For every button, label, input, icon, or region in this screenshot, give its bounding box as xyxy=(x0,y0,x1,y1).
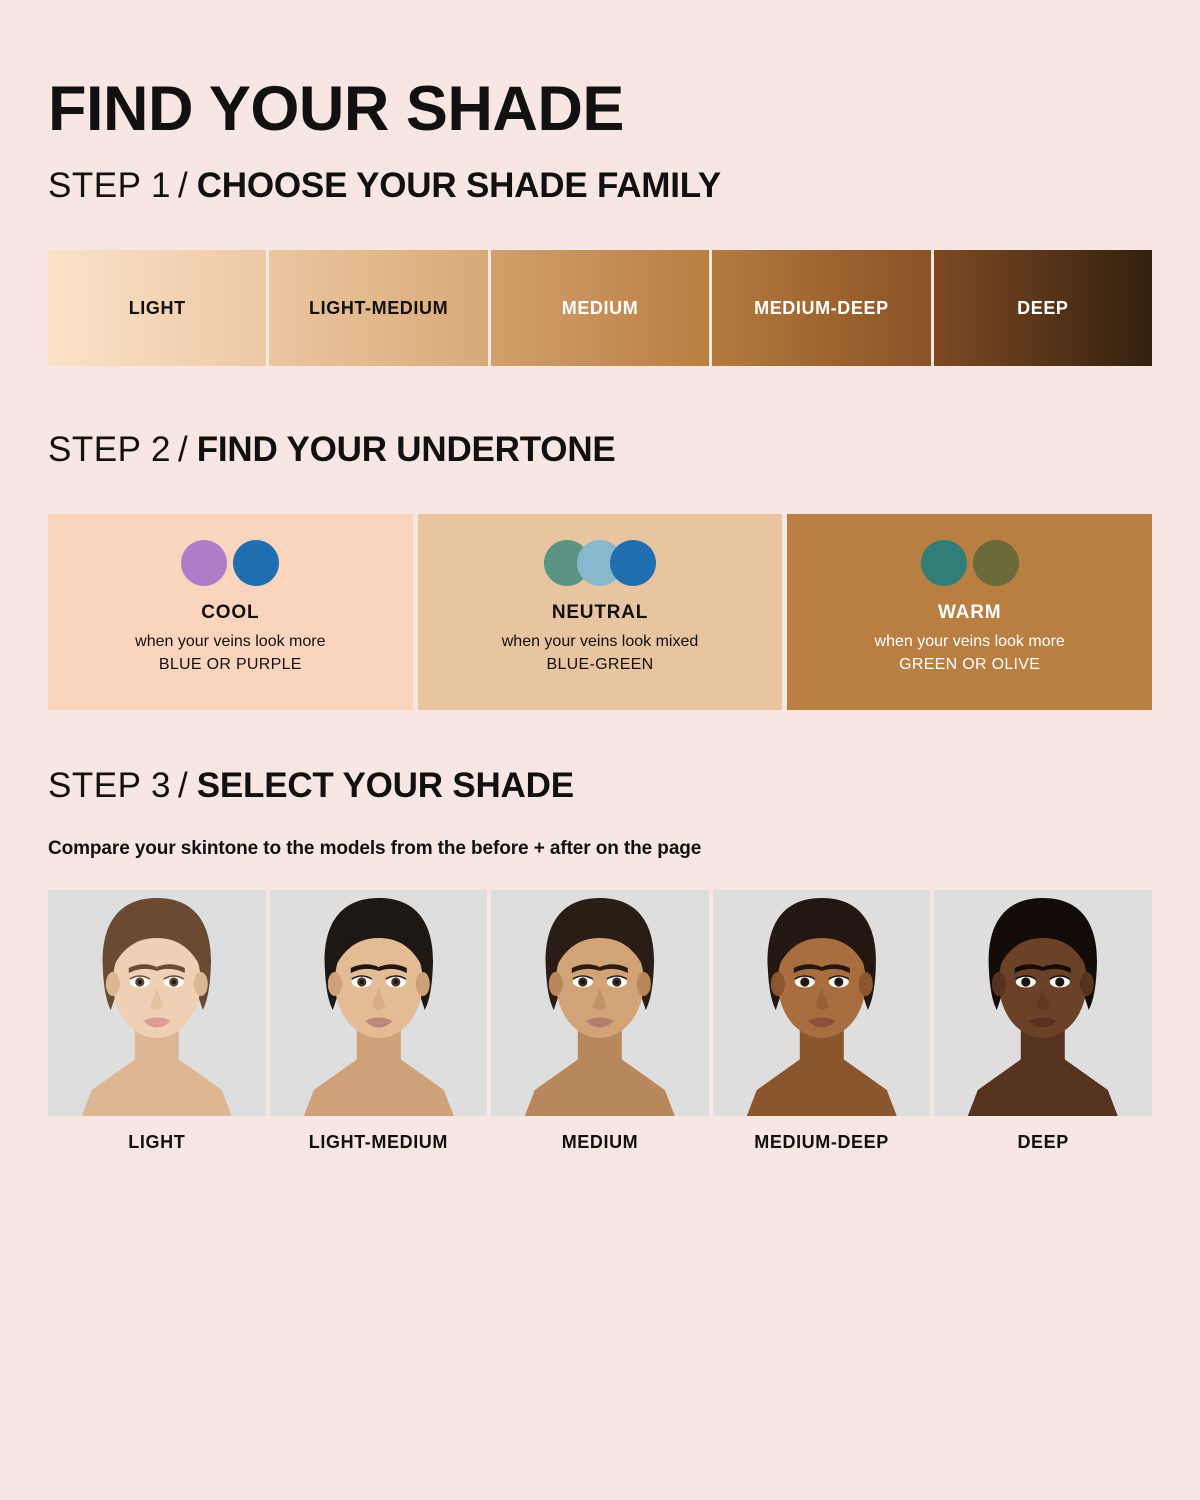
step-3-title: SELECT YOUR SHADE xyxy=(197,766,574,805)
step-1-title: CHOOSE YOUR SHADE FAMILY xyxy=(197,166,721,205)
undertone-panel-cool[interactable]: COOLwhen your veins look moreBLUE OR PUR… xyxy=(48,514,413,710)
model-shade-label: MEDIUM xyxy=(491,1122,709,1162)
model-photo[interactable] xyxy=(270,890,488,1116)
shade-family-swatch[interactable]: LIGHT-MEDIUM xyxy=(269,250,487,366)
model-photo[interactable] xyxy=(491,890,709,1116)
model-label-row: LIGHTLIGHT-MEDIUMMEDIUMMEDIUM-DEEPDEEP xyxy=(48,1122,1152,1162)
vein-color-dot-icon xyxy=(921,540,967,586)
shade-family-label: LIGHT xyxy=(129,298,186,319)
step-3-heading: STEP 3/SELECT YOUR SHADE xyxy=(48,768,574,803)
undertone-name: COOL xyxy=(201,602,259,624)
model-shade-label: MEDIUM-DEEP xyxy=(713,1122,931,1162)
model-photo[interactable] xyxy=(48,890,266,1116)
vein-color-dot-icon xyxy=(610,540,656,586)
step-1-heading: STEP 1/CHOOSE YOUR SHADE FAMILY xyxy=(48,168,721,203)
step-2-title: FIND YOUR UNDERTONE xyxy=(197,430,616,469)
model-photo[interactable] xyxy=(713,890,931,1116)
vein-color-dot-icon xyxy=(973,540,1019,586)
model-photo-row xyxy=(48,890,1152,1116)
undertone-panel-warm[interactable]: WARMwhen your veins look moreGREEN OR OL… xyxy=(787,514,1152,710)
undertone-description-line2: BLUE OR PURPLE xyxy=(135,654,325,677)
shade-family-label: MEDIUM-DEEP xyxy=(754,298,889,319)
undertone-name: WARM xyxy=(938,602,1001,624)
undertone-description-line1: when your veins look more xyxy=(135,633,325,650)
undertone-description: when your veins look moreBLUE OR PURPLE xyxy=(135,631,325,676)
shade-family-bar: LIGHTLIGHT-MEDIUMMEDIUMMEDIUM-DEEPDEEP xyxy=(48,250,1152,366)
shade-family-swatch[interactable]: DEEP xyxy=(934,250,1152,366)
model-portrait-image xyxy=(934,890,1152,1116)
shade-family-label: LIGHT-MEDIUM xyxy=(309,298,448,319)
model-shade-label: LIGHT xyxy=(48,1122,266,1162)
step-2-heading: STEP 2/FIND YOUR UNDERTONE xyxy=(48,432,616,467)
step-1-slash: / xyxy=(171,166,197,205)
shade-family-swatch[interactable]: LIGHT xyxy=(48,250,266,366)
undertone-description: when your veins look mixedBLUE-GREEN xyxy=(502,631,699,676)
undertone-panels: COOLwhen your veins look moreBLUE OR PUR… xyxy=(48,514,1152,710)
page-title: FIND YOUR SHADE xyxy=(48,78,624,141)
undertone-description: when your veins look moreGREEN OR OLIVE xyxy=(875,631,1065,676)
undertone-vein-color-dots xyxy=(181,540,279,586)
vein-color-dot-icon xyxy=(233,540,279,586)
undertone-panel-neutral[interactable]: NEUTRALwhen your veins look mixedBLUE-GR… xyxy=(418,514,783,710)
step-3-slash: / xyxy=(171,766,197,805)
undertone-vein-color-dots xyxy=(544,540,656,586)
step-2-slash: / xyxy=(171,430,197,469)
model-shade-label: LIGHT-MEDIUM xyxy=(270,1122,488,1162)
undertone-description-line2: GREEN OR OLIVE xyxy=(875,654,1065,677)
step-2-number: STEP 2 xyxy=(48,430,171,469)
step-3-number: STEP 3 xyxy=(48,766,171,805)
step-1-number: STEP 1 xyxy=(48,166,171,205)
model-portrait-image xyxy=(491,890,709,1116)
undertone-description-line1: when your veins look mixed xyxy=(502,633,699,650)
step-3-subtitle: Compare your skintone to the models from… xyxy=(48,838,701,860)
model-portrait-image xyxy=(713,890,931,1116)
model-photo[interactable] xyxy=(934,890,1152,1116)
shade-family-label: DEEP xyxy=(1017,298,1068,319)
find-your-shade-page: FIND YOUR SHADE STEP 1/CHOOSE YOUR SHADE… xyxy=(0,0,1200,1500)
undertone-name: NEUTRAL xyxy=(552,602,648,624)
model-portrait-image xyxy=(48,890,266,1116)
shade-family-swatch[interactable]: MEDIUM xyxy=(491,250,709,366)
shade-family-label: MEDIUM xyxy=(562,298,639,319)
undertone-description-line1: when your veins look more xyxy=(875,633,1065,650)
vein-color-dot-icon xyxy=(181,540,227,586)
model-portrait-image xyxy=(270,890,488,1116)
shade-family-swatch[interactable]: MEDIUM-DEEP xyxy=(712,250,930,366)
model-shade-label: DEEP xyxy=(934,1122,1152,1162)
undertone-description-line2: BLUE-GREEN xyxy=(502,654,699,677)
undertone-vein-color-dots xyxy=(921,540,1019,586)
